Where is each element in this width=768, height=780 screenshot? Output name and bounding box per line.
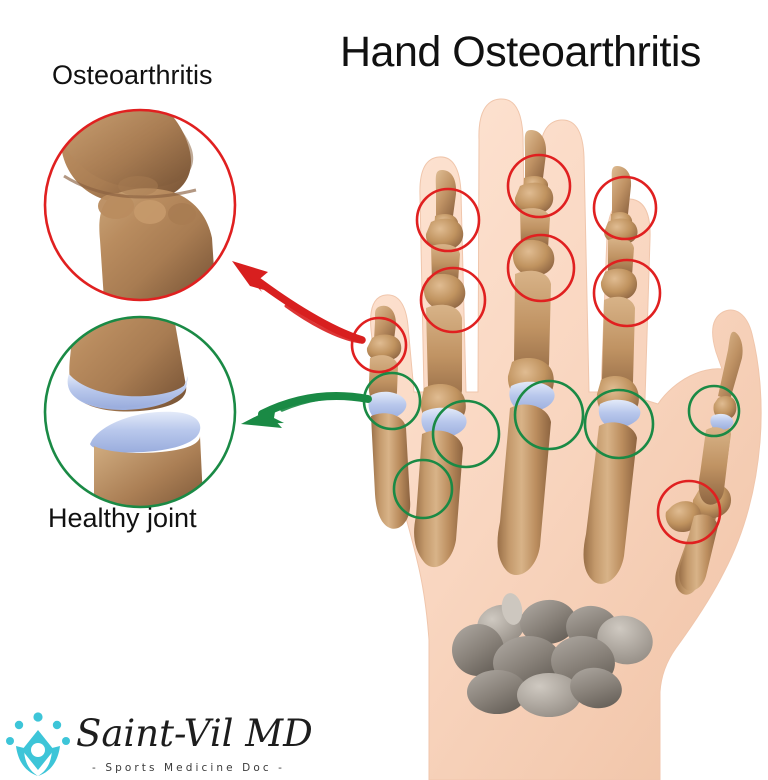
- brand-name: Saint-Vil MD: [76, 712, 313, 755]
- brand-watermark: Saint-Vil MD - Sports Medicine Doc -: [6, 706, 336, 778]
- healthy-joint-inset-graphic: [44, 295, 236, 520]
- healthy-joint-label: Healthy joint: [48, 503, 197, 534]
- red-pointer-arrow: [232, 261, 362, 342]
- saint-vil-md-wordmark: Saint-Vil MD: [72, 708, 334, 760]
- hand-anatomy-group: [352, 99, 768, 780]
- saint-vil-figure-icon: [6, 708, 70, 776]
- osteoarthritis-inset-graphic: [44, 84, 236, 301]
- osteoarthritis-label: Osteoarthritis: [52, 60, 213, 91]
- hand-osteoarthritis-illustration: [0, 0, 768, 780]
- page-title: Hand Osteoarthritis: [340, 28, 701, 77]
- illustration-canvas: Hand Osteoarthritis Osteoarthritis Healt…: [0, 0, 768, 780]
- green-pointer-arrow: [241, 396, 368, 428]
- brand-tagline: - Sports Medicine Doc -: [92, 762, 285, 774]
